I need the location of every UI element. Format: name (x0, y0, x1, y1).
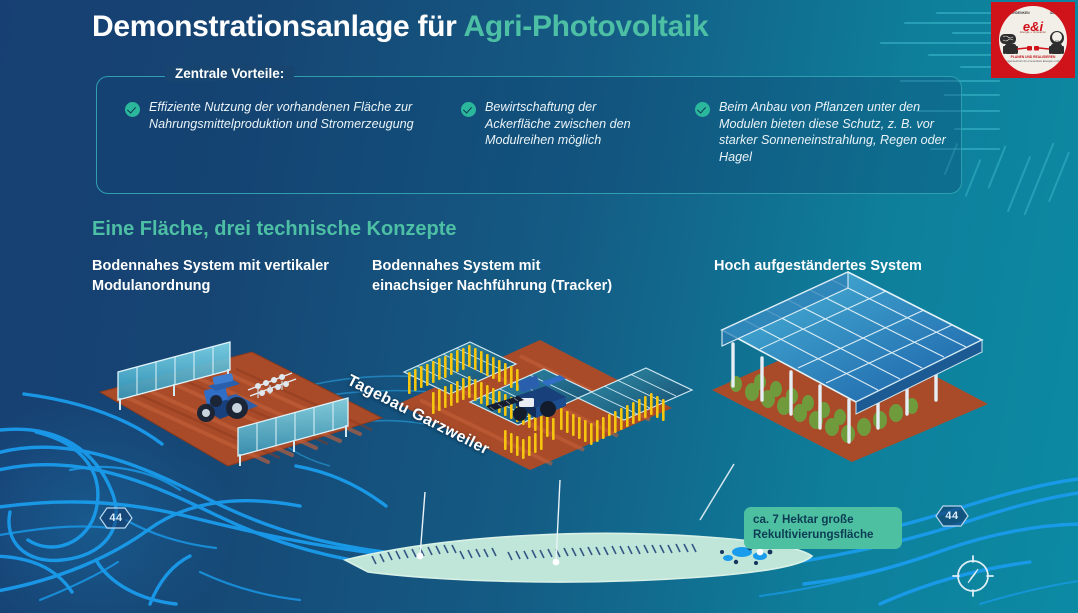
check-icon (695, 102, 710, 117)
illustration-tracker-system (398, 340, 692, 470)
benefits-panel: Zentrale Vorteile: Effiziente Nutzung de… (96, 76, 962, 194)
highway-shield-right-number: 44 (945, 510, 958, 522)
benefit-text: Beim Anbau von Pflanzen unter den Module… (719, 99, 953, 165)
logo-word-left: NACHDENKEN (1006, 11, 1030, 15)
page-title: Demonstrationsanlage für Agri-Photovolta… (92, 10, 708, 44)
rekultivierung-strip (345, 480, 812, 582)
logo-bottom-line2: E&I Ingenieurbüro für erneuerbare Energi… (999, 60, 1067, 64)
highway-shield-right: 44 (935, 505, 969, 527)
highway-shield-left-number: 44 (109, 512, 122, 524)
benefits-legend: Zentrale Vorteile: (165, 66, 294, 81)
compass-rose-icon (949, 552, 997, 600)
rekultivierung-callout: ca. 7 Hektar große Rekultivierungsfläche (744, 507, 902, 549)
benefits-list: Effiziente Nutzung der vorhandenen Fläch… (97, 99, 961, 165)
logo-bottom-text: PLANEN UND REALISIEREN E&I Ingenieurbüro… (999, 55, 1067, 64)
logo-word-right: IDEEN (1050, 11, 1060, 15)
page-title-accent: Agri-Photovoltaik (463, 10, 708, 43)
page-title-main: Demonstrationsanlage für (92, 10, 463, 43)
benefit-item: Effiziente Nutzung der vorhandenen Fläch… (119, 99, 437, 165)
company-logo: NACHDENKEN IDEEN e&i Energie + Innovatio… (991, 2, 1075, 78)
benefit-text: Bewirtschaftung der Ackerfläche zwischen… (485, 99, 661, 165)
section-heading: Eine Fläche, drei technische Konzepte (92, 218, 457, 241)
concept-column-title-1: Bodennahes System mit vertikaler Modulan… (92, 256, 342, 296)
benefit-text: Effiziente Nutzung der vorhandenen Fläch… (149, 99, 431, 165)
benefit-item: Bewirtschaftung der Ackerfläche zwischen… (455, 99, 667, 165)
logo-disc: NACHDENKEN IDEEN e&i Energie + Innovatio… (999, 6, 1067, 74)
benefit-item: Beim Anbau von Pflanzen unter den Module… (689, 99, 959, 165)
highway-shield-left: 44 (99, 507, 133, 529)
check-icon (125, 102, 140, 117)
illustration-vertical-system (100, 342, 382, 466)
check-icon (461, 102, 476, 117)
concept-column-title-2: Bodennahes System mit einachsiger Nachfü… (372, 256, 622, 296)
concept-column-title-3: Hoch aufgeständertes System (714, 256, 1004, 276)
logo-top-words: NACHDENKEN IDEEN (999, 11, 1067, 15)
illustration-elevated-system (712, 272, 988, 462)
slide-canvas: Tagebau Garzweiler Demonstrationsanlage … (0, 0, 1078, 613)
